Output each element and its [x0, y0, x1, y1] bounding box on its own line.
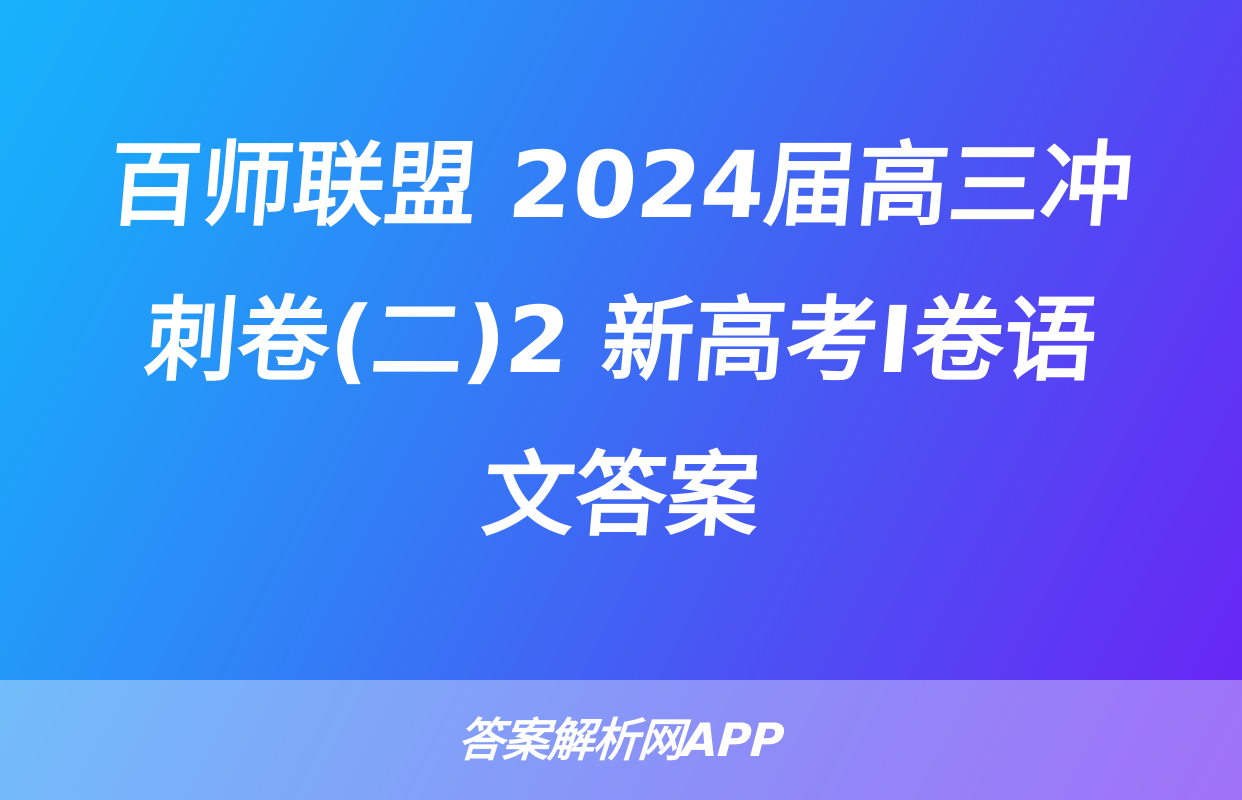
page-title-line-3: 文答案	[51, 418, 1191, 573]
poster-title-block: 百师联盟 2024届高三冲 刺卷(二)2 新高考Ⅰ卷语 文答案	[0, 0, 1242, 680]
page-title-line-1: 百师联盟 2024届高三冲	[51, 108, 1191, 263]
watermark-band: 答案解析网APP	[0, 680, 1242, 800]
answer-poster-card: 百师联盟 2024届高三冲 刺卷(二)2 新高考Ⅰ卷语 文答案 答案解析网APP	[0, 0, 1242, 800]
page-title-line-2: 刺卷(二)2 新高考Ⅰ卷语	[51, 263, 1191, 418]
app-watermark-label: 答案解析网APP	[457, 717, 785, 763]
